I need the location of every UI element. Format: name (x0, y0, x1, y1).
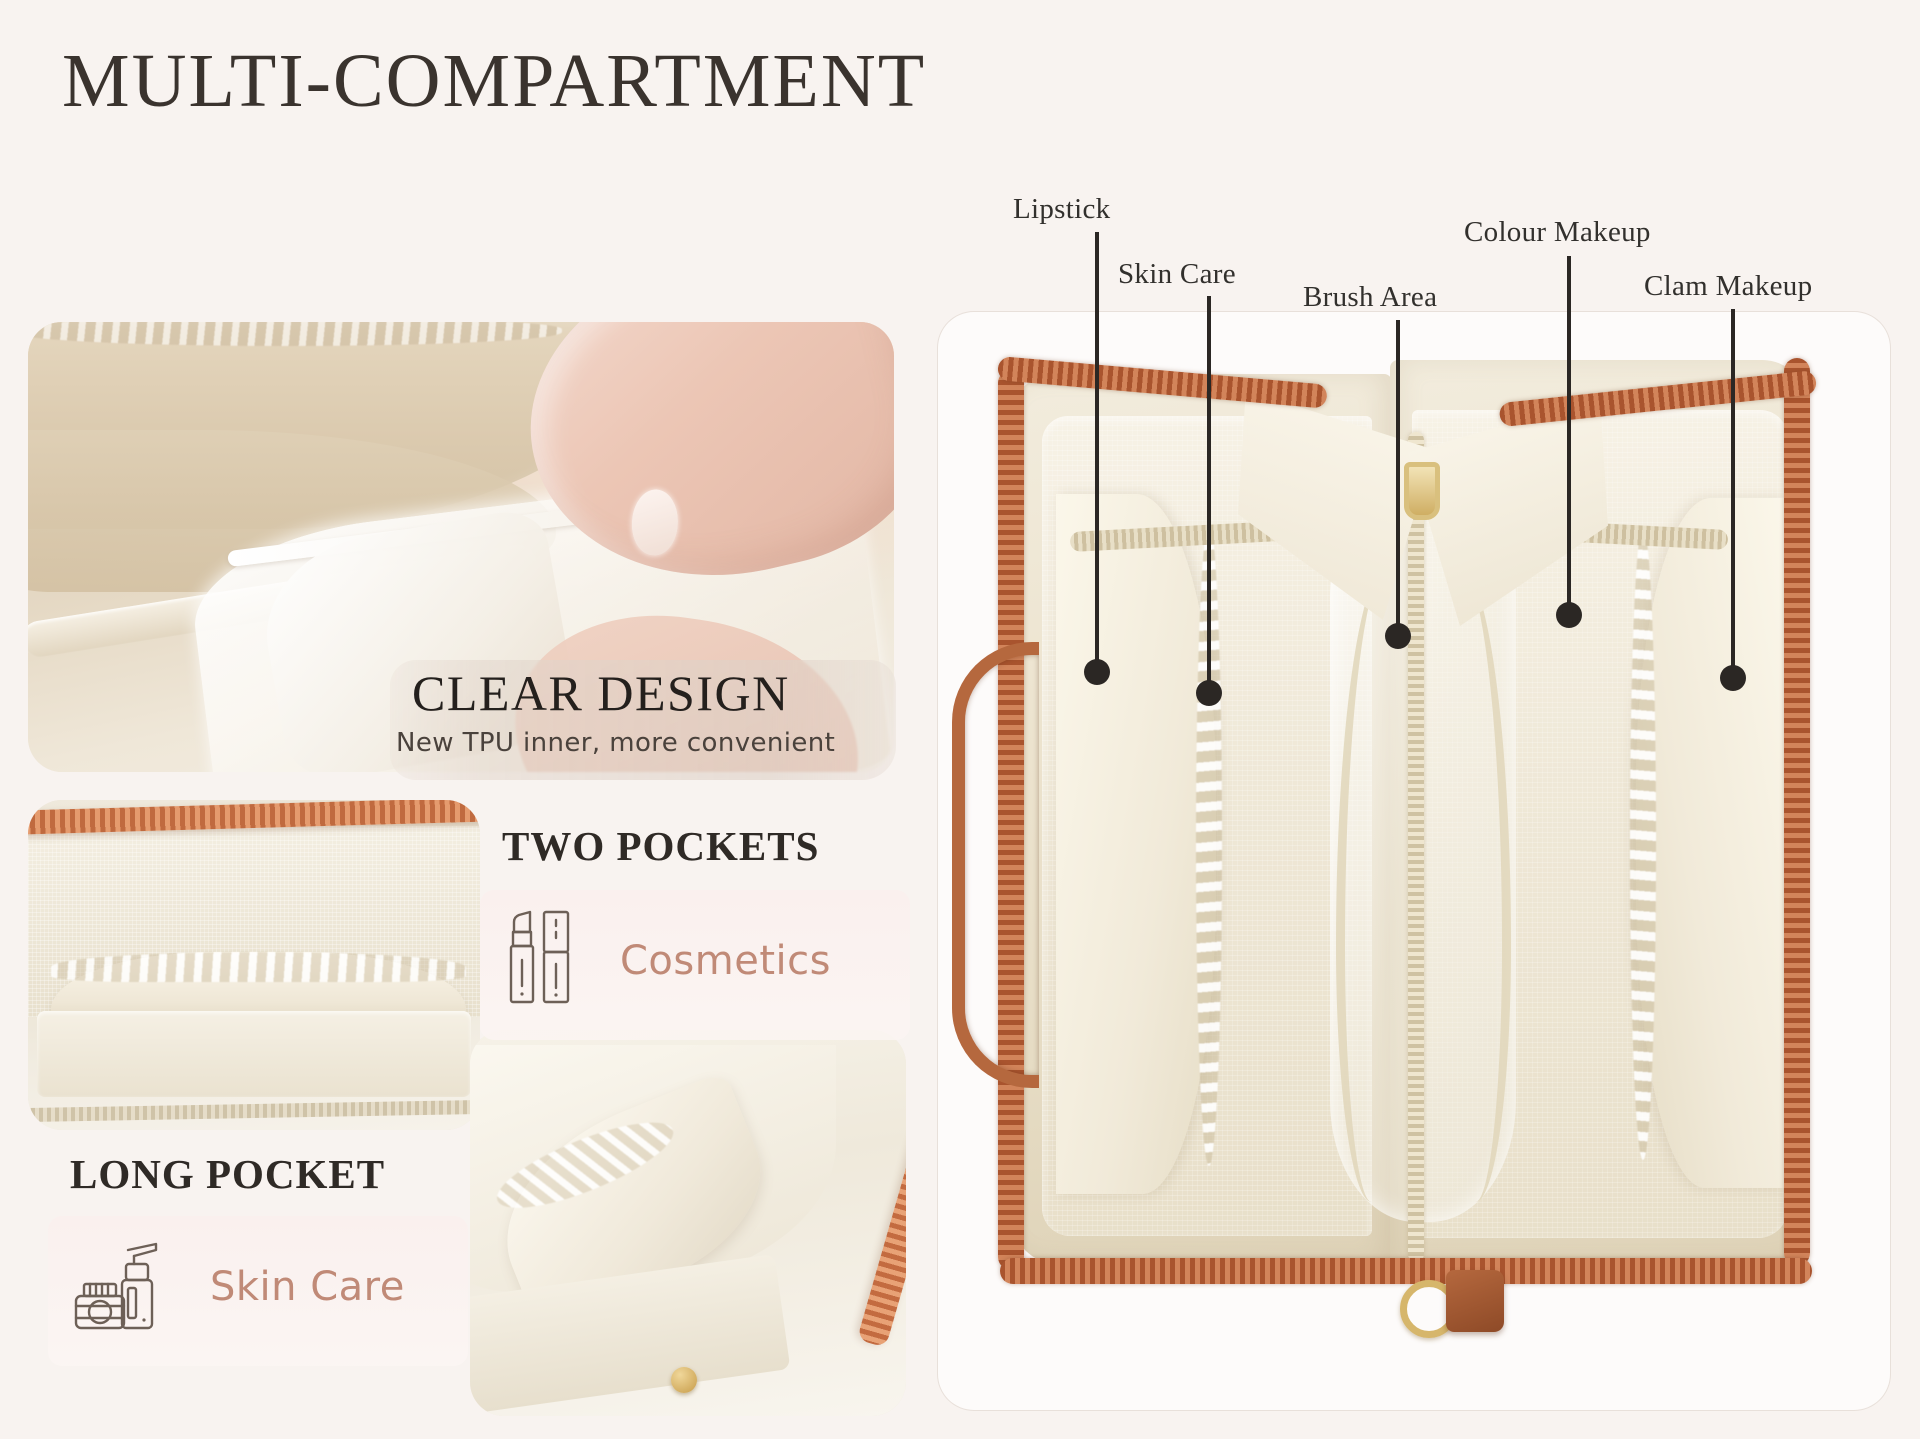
callout-dot-1 (1196, 680, 1222, 706)
open-cosmetic-bag-photo (938, 312, 1890, 1410)
callout-line-0 (1095, 232, 1099, 672)
clear-design-subtitle: New TPU inner, more convenient (396, 728, 835, 758)
main-product-panel (938, 312, 1890, 1410)
callout-dot-3 (1556, 602, 1582, 628)
callout-label-clam-makeup: Clam Makeup (1644, 270, 1812, 303)
elastic-ruffle-pocket-left (1056, 494, 1216, 1194)
long-pocket-feature-block: LONG POCKET (48, 1150, 468, 1370)
leather-zipper-tab (1446, 1270, 1504, 1332)
long-pocket-photo (28, 800, 480, 1130)
callout-line-2 (1396, 320, 1400, 636)
callout-label-colour-makeup: Colour Makeup (1464, 216, 1651, 249)
callout-dot-4 (1720, 665, 1746, 691)
second-pocket-photo (470, 1030, 906, 1416)
page-title: MULTI-COMPARTMENT (62, 38, 926, 125)
callout-line-3 (1567, 256, 1571, 615)
callout-label-skin-care: Skin Care (1118, 258, 1236, 291)
callout-dot-0 (1084, 659, 1110, 685)
lipstick-icon (504, 910, 578, 1011)
infographic-page: MULTI-COMPARTMENT CLEAR DESIGN New TPU i… (0, 0, 1920, 1439)
callout-line-4 (1731, 309, 1735, 678)
bag-handle-strap (952, 642, 1039, 1088)
skincare-bottles-icon (72, 1236, 176, 1337)
second-pocket-photo-content (470, 1030, 906, 1416)
callout-label-lipstick: Lipstick (1013, 193, 1110, 226)
long-pocket-title: LONG POCKET (70, 1150, 385, 1198)
callout-line-1 (1207, 296, 1211, 693)
skincare-feature-row: Skin Care (72, 1236, 405, 1337)
two-pockets-title: TWO POCKETS (502, 822, 819, 870)
cosmetics-label: Cosmetics (620, 938, 831, 984)
zipper-trim-right-edge (1784, 358, 1810, 1266)
cosmetics-feature-row: Cosmetics (504, 910, 831, 1011)
long-pocket-photo-content (28, 800, 480, 1130)
zipper-trim-bottom (1000, 1258, 1812, 1284)
two-pockets-feature-block: TWO POCKETS (480, 822, 910, 1040)
elastic-ruffle-pocket-right (1636, 498, 1786, 1188)
centre-zipper (1408, 432, 1424, 1262)
clear-design-title: CLEAR DESIGN (412, 664, 790, 722)
callout-dot-2 (1385, 623, 1411, 649)
skincare-label: Skin Care (210, 1264, 405, 1310)
top-zipper-pull (1404, 462, 1440, 520)
callout-label-brush-area: Brush Area (1303, 281, 1437, 314)
